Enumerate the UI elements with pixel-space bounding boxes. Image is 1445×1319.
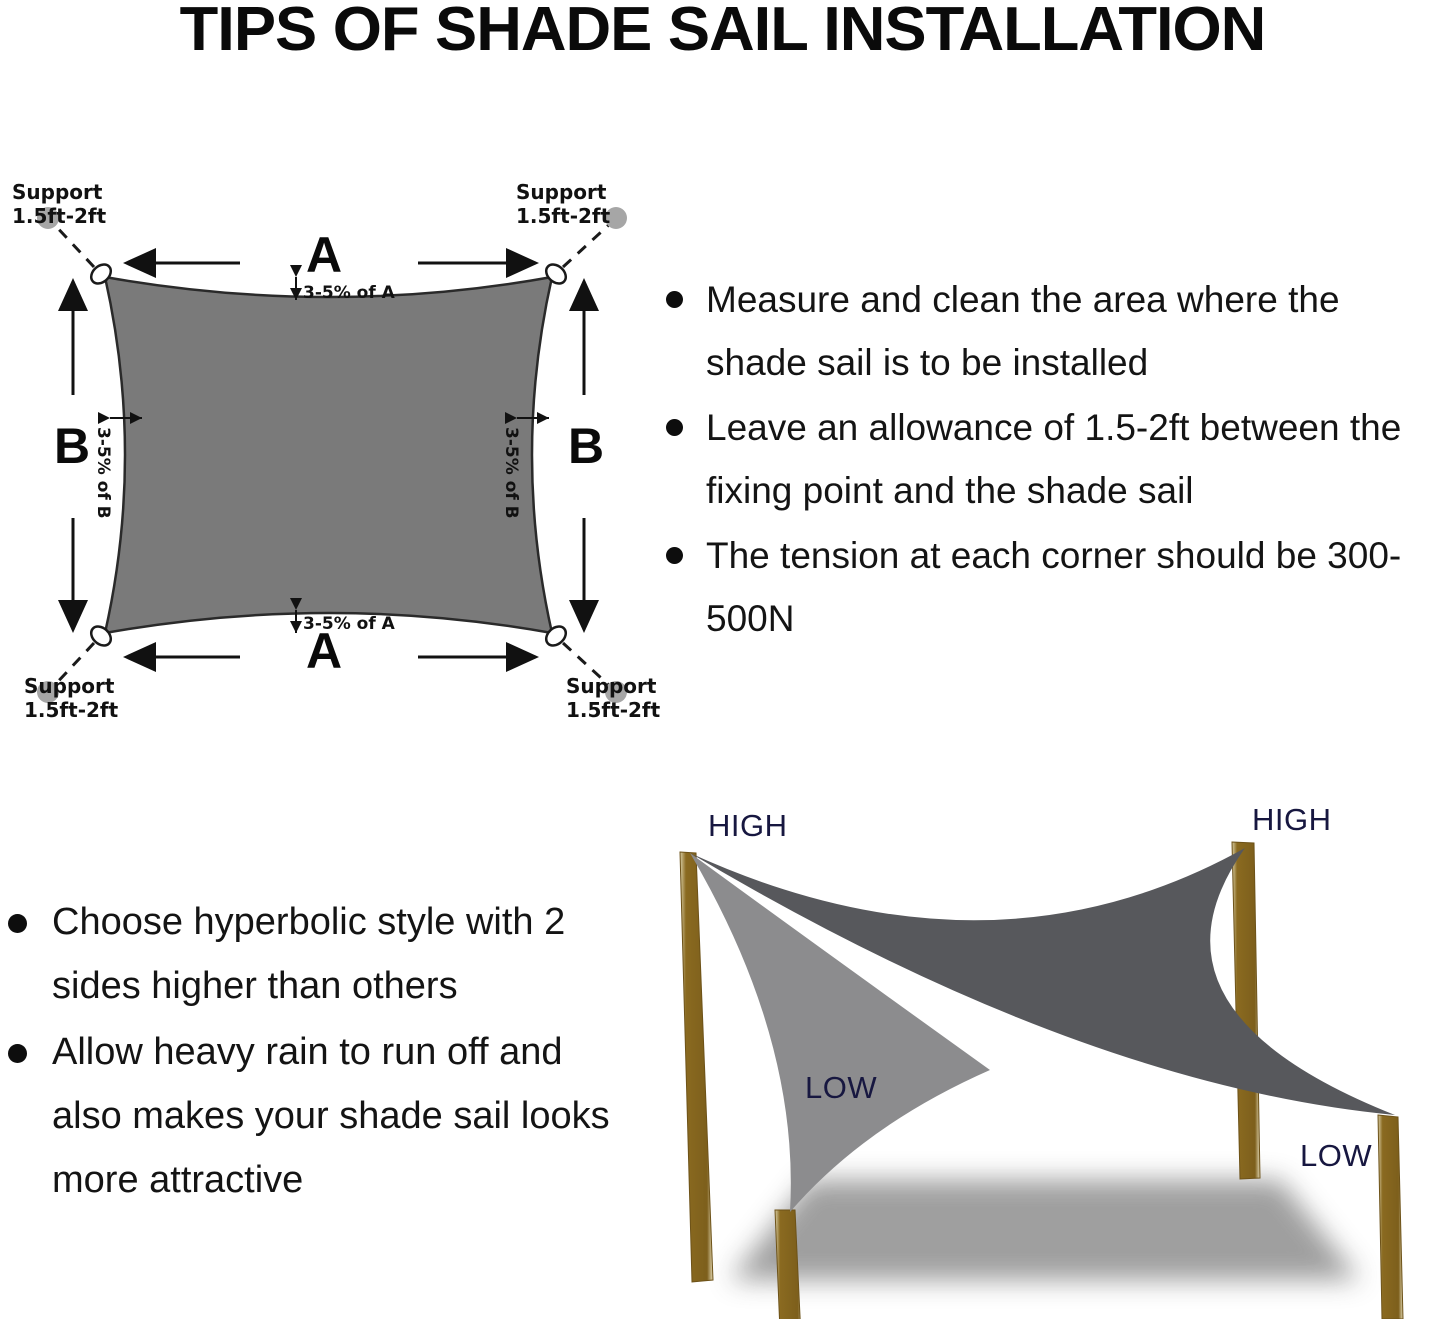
bullet-icon [8,914,27,933]
bullet-icon [666,291,683,308]
dimension-letter-b-right: B [568,421,604,471]
support-label-line2: 1.5ft-2ft [24,698,118,722]
tip-item: The tension at each corner should be 300… [648,524,1445,650]
support-label-bottom-right: Support 1.5ft-2ft [566,674,660,722]
tip-item: Choose hyperbolic style with 2 sides hig… [0,890,625,1018]
dimension-letter-a-top: A [306,230,342,280]
support-label-line1: Support [566,674,656,698]
support-label-line1: Support [516,180,606,204]
support-label-line2: 1.5ft-2ft [566,698,660,722]
tip-text: Leave an allowance of 1.5-2ft between th… [706,407,1401,511]
curvature-label-top: 3-5% of A [303,283,395,303]
installation-tips-list: Measure and clean the area where the sha… [648,268,1445,652]
support-label-line2: 1.5ft-2ft [12,204,106,228]
tip-text: Allow heavy rain to run off and also mak… [52,1031,610,1201]
tip-text: Choose hyperbolic style with 2 sides hig… [52,901,565,1007]
tip-text: Measure and clean the area where the sha… [706,279,1340,383]
pole-low-right [1378,1115,1403,1319]
support-label-bottom-left: Support 1.5ft-2ft [24,674,118,722]
hyperbolic-sail-illustration: HIGH HIGH LOW LOW [660,780,1445,1319]
tip-item: Allow heavy rain to run off and also mak… [0,1020,625,1212]
tip-item: Leave an allowance of 1.5-2ft between th… [648,396,1445,522]
bullet-icon [666,547,683,564]
label-low-right: LOW [1300,1138,1372,1174]
label-low-left: LOW [805,1070,877,1106]
dimension-letter-b-left: B [54,421,90,471]
ground-shadow [730,1180,1360,1280]
curvature-label-bottom: 3-5% of A [303,614,395,634]
hyperbolic-tips-list: Choose hyperbolic style with 2 sides hig… [0,890,625,1214]
bullet-icon [8,1044,27,1063]
curvature-label-right: 3-5% of B [501,427,521,519]
tip-item: Measure and clean the area where the sha… [648,268,1445,394]
support-label-line2: 1.5ft-2ft [516,204,610,228]
label-high-right: HIGH [1252,802,1332,838]
bullet-icon [666,419,683,436]
curvature-label-left: 3-5% of B [93,427,113,519]
sail-shape [105,277,552,633]
pole-high-left [680,852,713,1282]
label-high-left: HIGH [708,808,788,844]
tip-text: The tension at each corner should be 300… [706,535,1401,639]
hyperbolic-sail-svg [660,780,1445,1319]
support-label-line1: Support [12,180,102,204]
page-title: TIPS OF SHADE SAIL INSTALLATION [0,0,1445,65]
support-label-line1: Support [24,674,114,698]
support-label-top-left: Support 1.5ft-2ft [12,180,106,228]
pole-high-right [1232,842,1260,1179]
support-label-top-right: Support 1.5ft-2ft [516,180,610,228]
shade-sail-dimension-diagram: Support 1.5ft-2ft Support 1.5ft-2ft Supp… [0,150,660,750]
